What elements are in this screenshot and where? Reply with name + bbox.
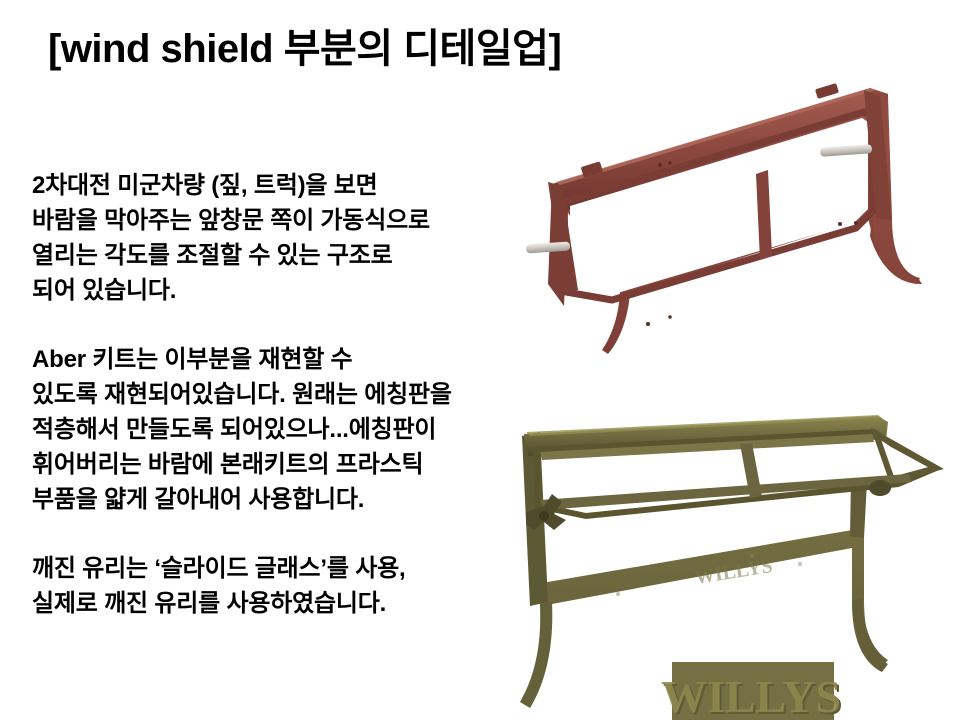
willys-emboss-inset: WILLYS WILLYS bbox=[661, 662, 843, 720]
text-line: 되어 있습니다. bbox=[32, 273, 502, 308]
right-pivot-knuckle bbox=[869, 480, 891, 496]
text-line: Aber 키트는 이부분을 재현할 수 bbox=[32, 342, 502, 377]
text-line: 적층해서 만들도록 되어있으나...에칭판이 bbox=[32, 412, 502, 447]
photo-green-windshield-frame: WILLYS bbox=[500, 388, 960, 720]
body-text-block: 2차대전 미군차량 (짚, 트럭)을 보면 바람을 막아주는 앞창문 쪽이 가동… bbox=[32, 168, 502, 621]
text-line: 부품을 얇게 갈아내어 사용합니다. bbox=[32, 482, 502, 517]
photo-red-windshield-frame bbox=[520, 78, 960, 380]
text-line: 휘어버리는 바람에 본래키트의 프라스틱 bbox=[32, 447, 502, 482]
willys-emboss-text: WILLYS bbox=[661, 671, 841, 720]
paragraph-3: 깨진 유리는 ‘슬라이드 글래스’를 사용, 실제로 깨진 유리를 사용하였습니… bbox=[32, 551, 502, 621]
text-line: 실제로 깨진 유리를 사용하였습니다. bbox=[32, 586, 502, 621]
page-title: [wind shield 부분의 디테일업] bbox=[48, 26, 561, 72]
text-line: 있도록 재현되어있습니다. 원래는 에칭판을 bbox=[32, 377, 502, 412]
text-line: 깨진 유리는 ‘슬라이드 글래스’를 사용, bbox=[32, 551, 502, 586]
text-line: 열리는 각도를 조절할 수 있는 구조로 bbox=[32, 238, 502, 273]
paragraph-2: Aber 키트는 이부분을 재현할 수 있도록 재현되어있습니다. 원래는 에칭… bbox=[32, 342, 502, 517]
text-line: 바람을 막아주는 앞창문 쪽이 가동식으로 bbox=[32, 203, 502, 238]
paragraph-1: 2차대전 미군차량 (짚, 트럭)을 보면 바람을 막아주는 앞창문 쪽이 가동… bbox=[32, 168, 502, 308]
text-line: 2차대전 미군차량 (짚, 트럭)을 보면 bbox=[32, 168, 502, 203]
presentation-slide: [wind shield 부분의 디테일업] 2차대전 미군차량 (짚, 트럭)… bbox=[0, 0, 960, 720]
